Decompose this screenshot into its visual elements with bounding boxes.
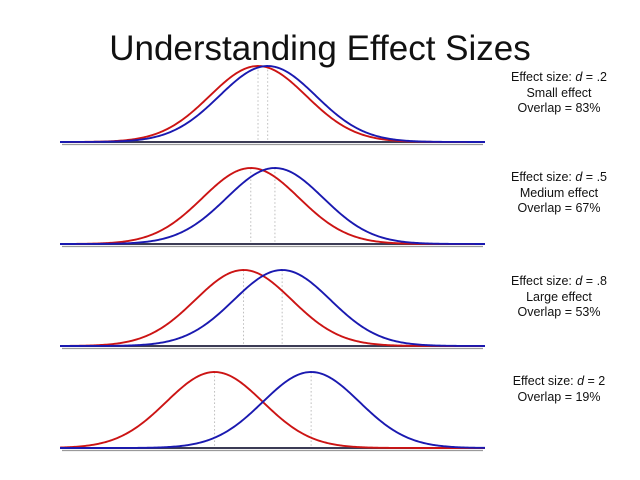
- distribution-plot-svg: [60, 260, 485, 352]
- overlap-label: Overlap = 19%: [480, 390, 638, 406]
- distribution-chart-3: [60, 260, 485, 352]
- distribution-chart-2: [60, 158, 485, 250]
- normal-curve-treatment: [60, 168, 485, 244]
- normal-curve-treatment: [60, 66, 485, 142]
- overlap-label: Overlap = 53%: [480, 305, 638, 321]
- normal-curve-control: [60, 168, 485, 244]
- distribution-plot-svg: [60, 56, 485, 148]
- panel-caption-2: Effect size: d = .5 Medium effect Overla…: [480, 170, 638, 217]
- distribution-plot-svg: [60, 362, 485, 454]
- distribution-chart-4: [60, 362, 485, 454]
- normal-curve-control: [60, 270, 485, 346]
- panel-caption-1: Effect size: d = .2 Small effect Overlap…: [480, 70, 638, 117]
- overlap-label: Overlap = 67%: [480, 201, 638, 217]
- panel-caption-4: Effect size: d = 2 Overlap = 19%: [480, 374, 638, 405]
- effect-magnitude-label: Small effect: [480, 86, 638, 102]
- effect-size-line: Effect size: d = .8: [480, 274, 638, 290]
- effect-magnitude-label: Medium effect: [480, 186, 638, 202]
- effect-size-line: Effect size: d = .2: [480, 70, 638, 86]
- slide-canvas: Understanding Effect Sizes Effect size: …: [0, 0, 640, 480]
- distribution-chart-1: [60, 56, 485, 148]
- effect-magnitude-label: Large effect: [480, 290, 638, 306]
- overlap-label: Overlap = 83%: [480, 101, 638, 117]
- effect-size-line: Effect size: d = 2: [480, 374, 638, 390]
- normal-curve-control: [60, 372, 485, 448]
- normal-curve-control: [60, 66, 485, 142]
- effect-size-line: Effect size: d = .5: [480, 170, 638, 186]
- distribution-plot-svg: [60, 158, 485, 250]
- panel-caption-3: Effect size: d = .8 Large effect Overlap…: [480, 274, 638, 321]
